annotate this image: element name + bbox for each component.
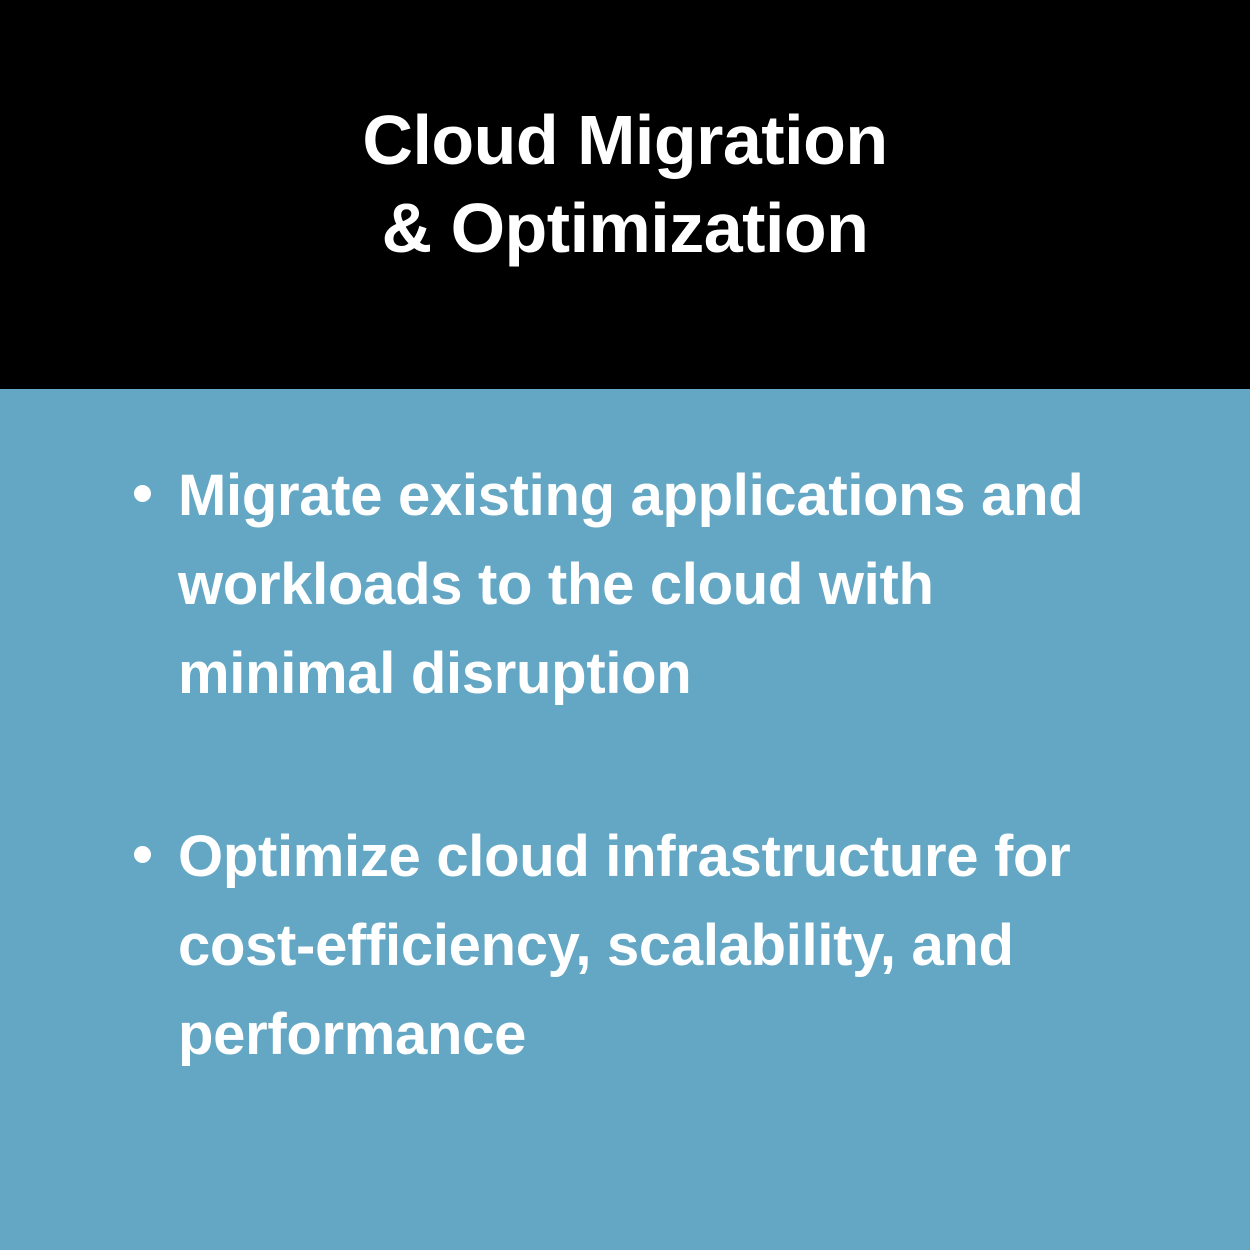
slide-body: Migrate existing applications and worklo… [0, 389, 1250, 1250]
bullet-text: Migrate existing applications and worklo… [178, 451, 1138, 718]
list-item: Migrate existing applications and worklo… [124, 451, 1144, 718]
list-item: Optimize cloud infrastructure for cost-e… [124, 812, 1144, 1079]
bullet-list: Migrate existing applications and worklo… [124, 451, 1144, 1079]
bullet-dot-icon [134, 485, 151, 502]
slide-header-band: Cloud Migration & Optimization [0, 0, 1250, 389]
slide-title-line-1: Cloud Migration [0, 96, 1250, 184]
slide-title-line-2: & Optimization [0, 184, 1250, 272]
bullet-text: Optimize cloud infrastructure for cost-e… [178, 812, 1138, 1079]
presentation-slide: Cloud Migration & Optimization Migrate e… [0, 0, 1250, 1250]
bullet-dot-icon [134, 846, 151, 863]
